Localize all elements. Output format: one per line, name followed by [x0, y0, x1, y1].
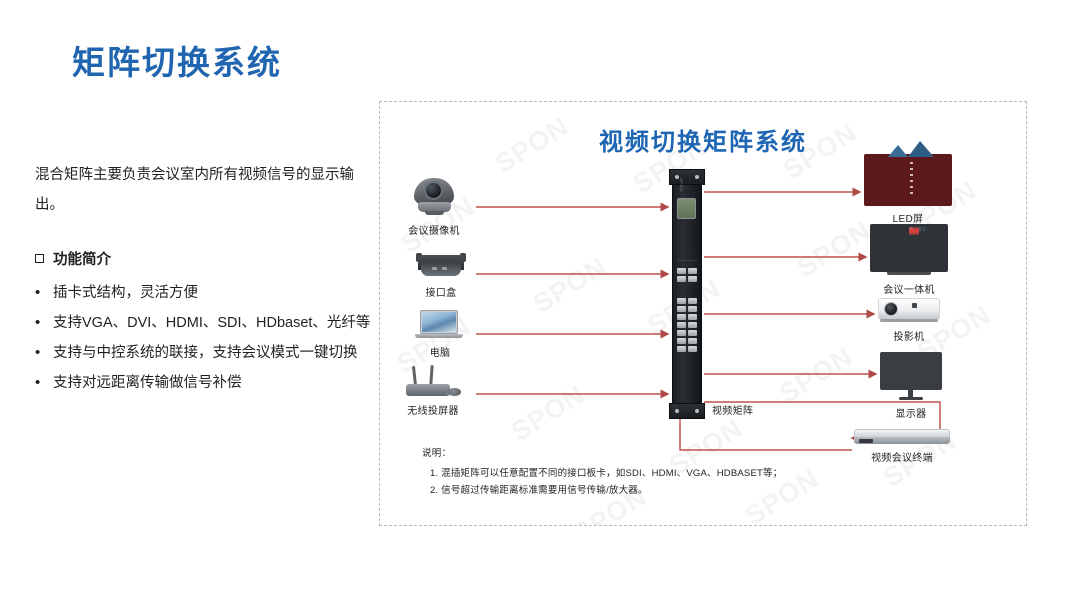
matrix-label: 视频矩阵	[712, 402, 753, 417]
features-heading-label: 功能简介	[53, 248, 111, 269]
interface-box-icon	[414, 250, 468, 280]
monitor-icon	[880, 352, 942, 401]
projector-icon	[878, 294, 940, 324]
dot-bullet-icon: •	[35, 308, 53, 338]
node-conference-camera[interactable]: 会议摄像机	[406, 174, 462, 237]
notes-block: 说明： 1. 混插矩阵可以任意配置不同的接口板卡，如SDI、HDMI、VGA、H…	[422, 445, 892, 499]
led-screen-icon	[864, 154, 952, 206]
node-label: 无线投屏器	[402, 402, 464, 417]
conference-panel-icon: 11:02	[870, 224, 948, 277]
list-item-label: 支持与中控系统的联接，支持会议模式一键切换	[53, 338, 380, 368]
wireless-caster-icon	[402, 364, 464, 398]
node-led-screen[interactable]: LED屏	[864, 154, 952, 225]
matrix-lcd-display	[677, 198, 696, 219]
dot-bullet-icon: •	[35, 368, 53, 398]
matrix-rack-ear-top	[669, 169, 705, 185]
features-list: • 插卡式结构，灵活方便 • 支持VGA、DVI、HDMI、SDI、HDbase…	[35, 278, 380, 398]
matrix-rack-ear-bottom	[669, 403, 705, 419]
node-label: 投影机	[878, 328, 940, 343]
matrix-keypad-lower[interactable]	[677, 298, 697, 352]
video-terminal-icon	[854, 429, 950, 445]
conference-camera-icon	[406, 174, 462, 218]
list-item-label: 支持对远距离传输做信号补偿	[53, 368, 380, 398]
matrix-divider	[677, 260, 697, 261]
dot-bullet-icon: •	[35, 338, 53, 368]
list-item: • 支持对远距离传输做信号补偿	[35, 368, 380, 398]
note-line: 1. 混插矩阵可以任意配置不同的接口板卡，如SDI、HDMI、VGA、HDBAS…	[422, 465, 892, 482]
dot-bullet-icon: •	[35, 278, 53, 308]
node-projector[interactable]: 投影机	[878, 294, 940, 343]
page-title: 矩阵切换系统	[72, 36, 282, 84]
list-item: • 插卡式结构，灵活方便	[35, 278, 380, 308]
square-bullet-icon	[35, 254, 44, 263]
matrix-brand-mark: SPON	[679, 178, 684, 191]
node-video-matrix[interactable]: SPON	[672, 170, 702, 418]
node-label: 会议摄像机	[406, 222, 462, 237]
note-line: 2. 信号超过传输距离标准需要用信号传输/放大器。	[422, 482, 892, 499]
node-monitor[interactable]: 显示器	[880, 352, 942, 420]
diagram-panel: SPONSPONSPONSPONSPONSPONSPONSPONSPONSPON…	[379, 101, 1027, 526]
node-wireless-caster[interactable]: 无线投屏器	[402, 364, 464, 417]
node-interface-box[interactable]: 接口盒	[414, 250, 468, 299]
computer-icon	[414, 308, 466, 340]
node-label: 接口盒	[414, 284, 468, 299]
intro-paragraph: 混合矩阵主要负责会议室内所有视频信号的显示输出。	[35, 160, 375, 220]
features-heading: 功能简介	[35, 248, 111, 269]
list-item: • 支持VGA、DVI、HDMI、SDI、HDbaset、光纤等	[35, 308, 380, 338]
list-item: • 支持与中控系统的联接，支持会议模式一键切换	[35, 338, 380, 368]
list-item-label: 插卡式结构，灵活方便	[53, 278, 380, 308]
node-computer[interactable]: 电脑	[414, 308, 466, 359]
list-item-label: 支持VGA、DVI、HDMI、SDI、HDbaset、光纤等	[53, 308, 380, 338]
notes-title: 说明：	[422, 445, 892, 459]
matrix-keypad-upper[interactable]	[677, 268, 697, 282]
node-label: 显示器	[880, 405, 942, 420]
node-label: 电脑	[414, 344, 466, 359]
node-conference-panel[interactable]: 11:02 会议一体机	[870, 224, 948, 296]
node-label: LED屏	[864, 210, 952, 225]
